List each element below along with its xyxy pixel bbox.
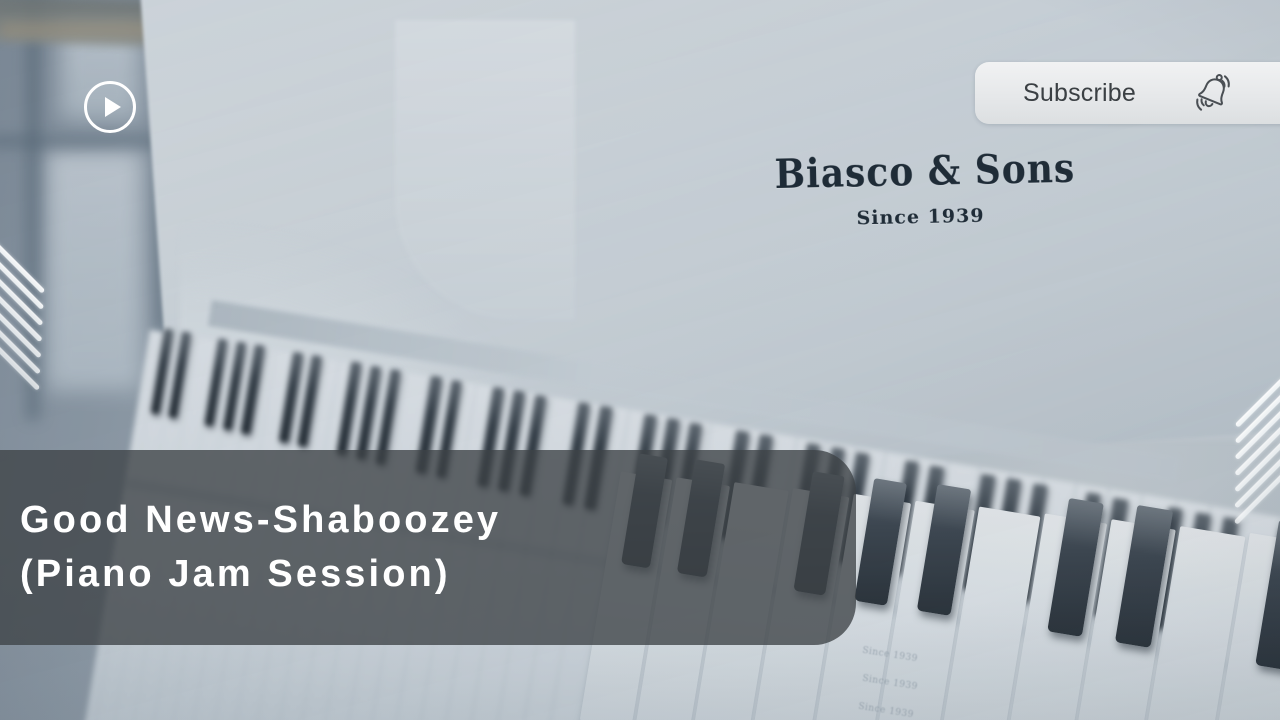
play-icon	[105, 97, 121, 117]
decor-stripe	[0, 207, 45, 294]
decor-stripes-left	[0, 196, 116, 366]
play-button[interactable]	[84, 81, 136, 133]
decor-stripes-right	[1196, 330, 1280, 450]
title-overlay-panel: Good News-Shaboozey (Piano Jam Session)	[0, 450, 856, 645]
video-title-line-1: Good News-Shaboozey	[20, 494, 856, 548]
subscribe-button[interactable]: Subscribe	[975, 62, 1280, 124]
bell-ring-icon	[1190, 70, 1236, 116]
video-title-line-2: (Piano Jam Session)	[20, 548, 856, 602]
video-thumbnail-card: Biasco & Sons Since 1939 Since 1939Since…	[0, 0, 1280, 720]
decor-stripe	[1235, 341, 1280, 428]
subscribe-label: Subscribe	[1023, 79, 1136, 108]
